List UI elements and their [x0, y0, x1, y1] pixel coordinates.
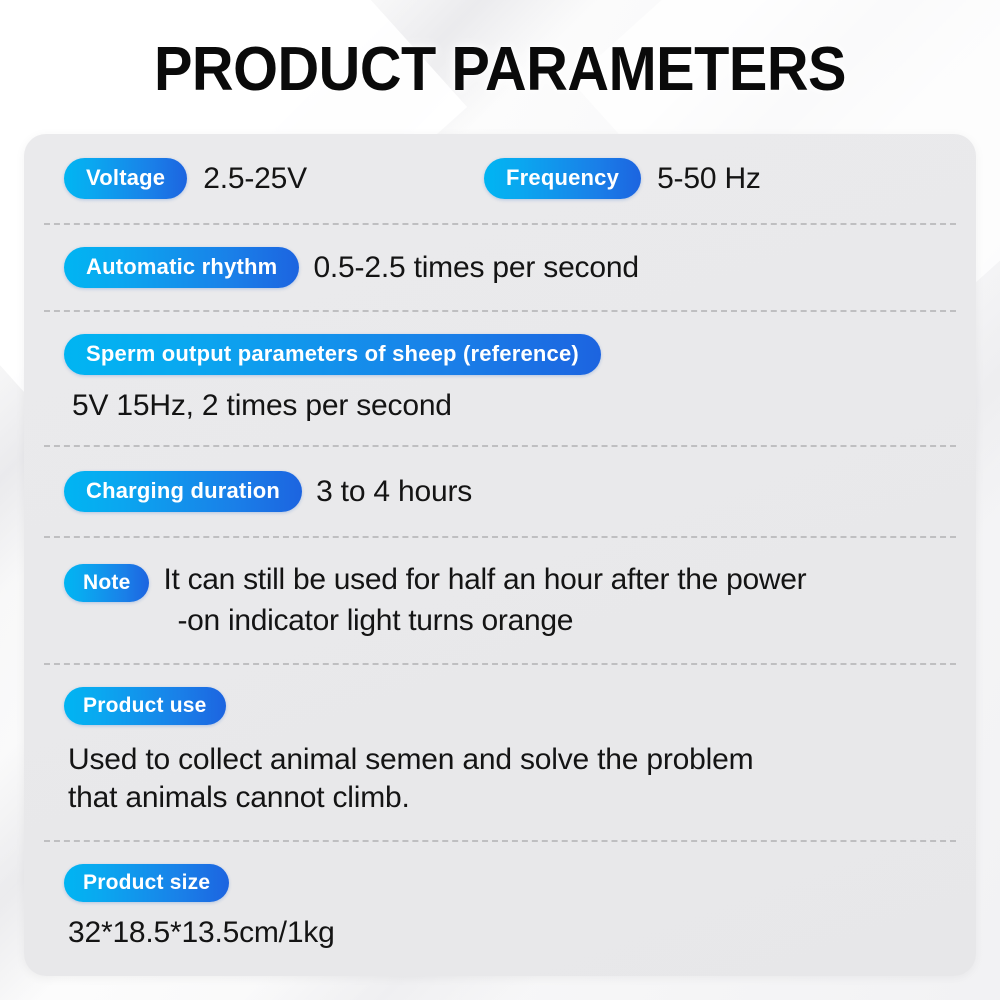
label-pill-sperm-output: Sperm output parameters of sheep (refere… [64, 334, 601, 375]
value-note: It can still be used for half an hour af… [163, 560, 806, 640]
value-product-use-line-2: that animals cannot climb. [68, 781, 410, 814]
label-pill-automatic-rhythm: Automatic rhythm [64, 247, 299, 288]
value-product-use-line-1: Used to collect animal semen and solve t… [68, 743, 753, 776]
spec-item-frequency: Frequency 5-50 Hz [484, 158, 761, 199]
label-pill-note: Note [64, 564, 149, 602]
label-pill-product-size: Product size [64, 864, 229, 902]
label-pill-product-use: Product use [64, 687, 226, 725]
value-product-size: 32*18.5*13.5cm/1kg [64, 914, 956, 952]
value-automatic-rhythm: 0.5-2.5 times per second [313, 249, 638, 286]
specification-card: Voltage 2.5-25V Frequency 5-50 Hz Automa… [24, 134, 976, 976]
value-note-line-1: It can still be used for half an hour af… [163, 563, 806, 596]
label-pill-charging-duration: Charging duration [64, 471, 302, 512]
value-charging-duration: 3 to 4 hours [316, 473, 472, 510]
spec-row-note: Note It can still be used for half an ho… [44, 538, 956, 662]
value-frequency: 5-50 Hz [657, 160, 761, 197]
spec-item-voltage: Voltage 2.5-25V [64, 158, 484, 199]
spec-row-automatic-rhythm: Automatic rhythm 0.5-2.5 times per secon… [44, 225, 956, 310]
value-note-line-2: -on indicator light turns orange [163, 601, 806, 641]
value-product-use: Used to collect animal semen and solve t… [64, 741, 956, 818]
spec-row-charging-duration: Charging duration 3 to 4 hours [44, 447, 956, 536]
spec-row-product-use: Product use Used to collect animal semen… [44, 665, 956, 840]
label-pill-frequency: Frequency [484, 158, 641, 199]
spec-row-product-size: Product size 32*18.5*13.5cm/1kg [44, 842, 956, 952]
page-title: PRODUCT PARAMETERS [35, 34, 965, 105]
value-sperm-output: 5V 15Hz, 2 times per second [64, 387, 956, 425]
label-pill-voltage: Voltage [64, 158, 187, 199]
spec-row-voltage-frequency: Voltage 2.5-25V Frequency 5-50 Hz [44, 134, 956, 199]
spec-row-sperm-output: Sperm output parameters of sheep (refere… [44, 312, 956, 445]
value-voltage: 2.5-25V [203, 160, 307, 197]
